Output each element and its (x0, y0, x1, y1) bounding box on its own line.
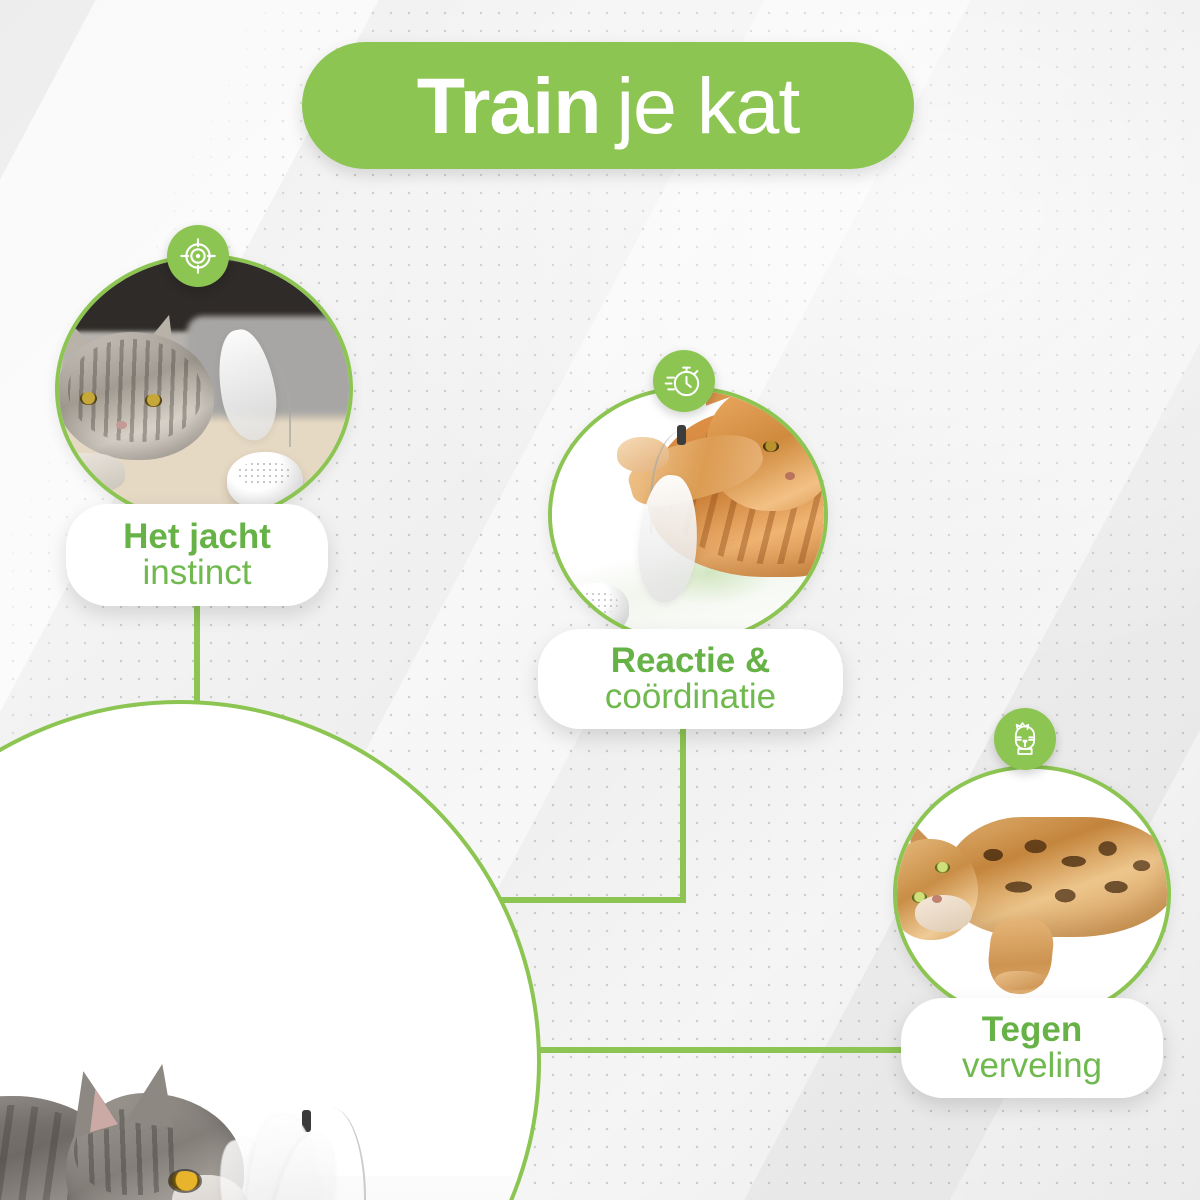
page-title: Train je kat (302, 42, 914, 169)
card3-label-line1: Tegen (982, 1012, 1082, 1048)
card3-label: Tegen verveling (901, 998, 1163, 1098)
card1-label-line2: instinct (143, 555, 252, 591)
card1-photo (55, 254, 353, 524)
page-title-light: je kat (616, 60, 799, 152)
hero-feather-toy (214, 1108, 374, 1200)
card3-photo (893, 765, 1171, 1023)
card1-label-line1: Het jacht (123, 519, 271, 555)
card2-label-line1: Reactie & (611, 643, 771, 679)
stopwatch-icon (653, 350, 715, 412)
card2-photo (548, 386, 828, 644)
card2-label-line2: coördinatie (605, 679, 776, 715)
card3-label-line2: verveling (962, 1048, 1102, 1084)
cat-face-crown-icon (994, 708, 1056, 770)
infographic-canvas: Train je kat (0, 0, 1200, 1200)
card2-label: Reactie & coördinatie (538, 629, 843, 729)
card1-label: Het jacht instinct (66, 504, 328, 606)
crosshair-target-icon (167, 225, 229, 287)
page-title-strong: Train (417, 60, 601, 152)
